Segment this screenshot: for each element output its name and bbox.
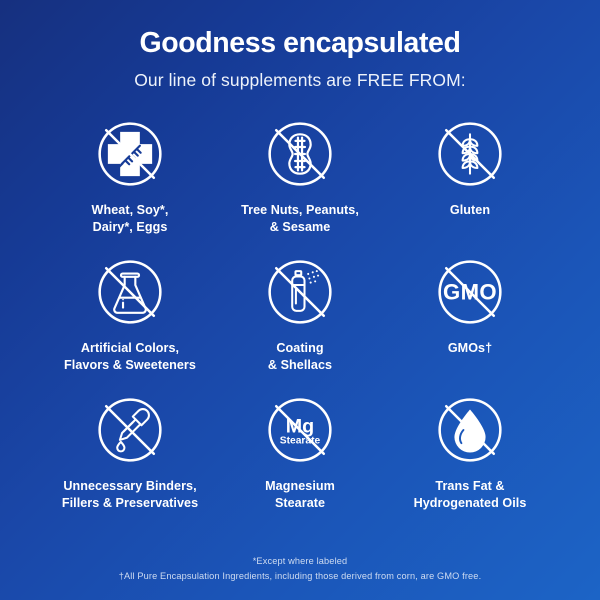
no-gluten-icon [429, 113, 511, 195]
grid-item-label: Wheat, Soy*, Dairy*, Eggs [92, 202, 169, 235]
footnote-dagger: †All Pure Encapsulation Ingredients, inc… [0, 569, 600, 584]
no-artificial-colors-flavors-sweeteners-icon [89, 251, 171, 333]
page-subtitle: Our line of supplements are FREE FROM: [134, 70, 466, 91]
grid-item-magnesium-stearate: Mg Stearate Magnesium Stearate [215, 389, 385, 527]
poster-root: Goodness encapsulated Our line of supple… [0, 0, 600, 600]
grid-item-gluten: Gluten [385, 113, 555, 251]
no-trans-fat-hydrogenated-oils-icon [429, 389, 511, 471]
grid-item-label: Tree Nuts, Peanuts, & Sesame [241, 202, 359, 235]
grid-item-label: Coating & Shellacs [268, 340, 332, 373]
no-binders-fillers-preservatives-icon [89, 389, 171, 471]
page-title: Goodness encapsulated [139, 28, 460, 59]
grid-item-label: Gluten [450, 202, 490, 219]
grid-item-tree-nuts-peanuts-sesame: Tree Nuts, Peanuts, & Sesame [215, 113, 385, 251]
no-gmo-icon: GMO [429, 251, 511, 333]
no-tree-nuts-peanuts-sesame-icon [259, 113, 341, 195]
grid-item-gmos: GMO GMOs† [385, 251, 555, 389]
grid-item-artificial-colors: Artificial Colors, Flavors & Sweeteners [45, 251, 215, 389]
grid-item-wheat-soy-dairy-eggs: Wheat, Soy*, Dairy*, Eggs [45, 113, 215, 251]
free-from-grid: Wheat, Soy*, Dairy*, Eggs Tree Nuts, Pea [45, 113, 555, 527]
no-coating-shellacs-icon [259, 251, 341, 333]
grid-item-binders-fillers-preservatives: Unnecessary Binders, Fillers & Preservat… [45, 389, 215, 527]
grid-item-label: Magnesium Stearate [265, 478, 335, 511]
footnotes: *Except where labeled †All Pure Encapsul… [0, 554, 600, 584]
footnote-asterisk: *Except where labeled [0, 554, 600, 569]
grid-item-label: Trans Fat & Hydrogenated Oils [414, 478, 527, 511]
grid-item-coating-shellacs: Coating & Shellacs [215, 251, 385, 389]
grid-item-label: Artificial Colors, Flavors & Sweeteners [64, 340, 196, 373]
grid-item-label: GMOs† [448, 340, 492, 357]
no-magnesium-stearate-icon: Mg Stearate [259, 389, 341, 471]
grid-item-label: Unnecessary Binders, Fillers & Preservat… [62, 478, 198, 511]
no-wheat-soy-dairy-eggs-icon [89, 113, 171, 195]
grid-item-trans-fat-hydrogenated-oils: Trans Fat & Hydrogenated Oils [385, 389, 555, 527]
